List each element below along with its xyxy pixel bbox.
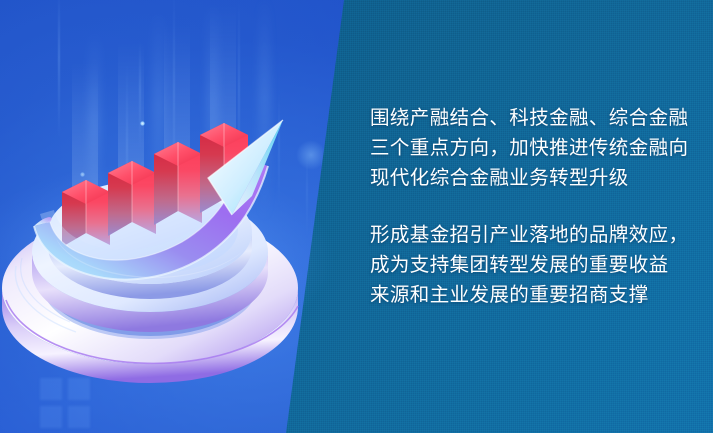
paragraph-1-line-1: 围绕产融结合、科技金融、综合金融 — [370, 103, 690, 133]
paragraph-2-line-2: 成为支持集团转型发展的重要收益 — [370, 250, 690, 280]
paragraph-2-line-3: 来源和主业发展的重要招商支撑 — [370, 280, 690, 310]
promo-banner: 围绕产融结合、科技金融、综合金融 三个重点方向，加快推进传统金融向 现代化综合金… — [0, 0, 713, 433]
paragraph-1: 围绕产融结合、科技金融、综合金融 三个重点方向，加快推进传统金融向 现代化综合金… — [370, 103, 690, 193]
copy-block: 围绕产融结合、科技金融、综合金融 三个重点方向，加快推进传统金融向 现代化综合金… — [370, 103, 690, 310]
growth-chart-illustration — [0, 0, 344, 433]
paragraph-1-line-2: 三个重点方向，加快推进传统金融向 — [370, 133, 690, 163]
paragraph-1-line-3: 现代化综合金融业务转型升级 — [370, 163, 690, 193]
paragraph-2: 形成基金招引产业落地的品牌效应， 成为支持集团转型发展的重要收益 来源和主业发展… — [370, 220, 690, 310]
paragraph-2-line-1: 形成基金招引产业落地的品牌效应， — [370, 220, 690, 250]
